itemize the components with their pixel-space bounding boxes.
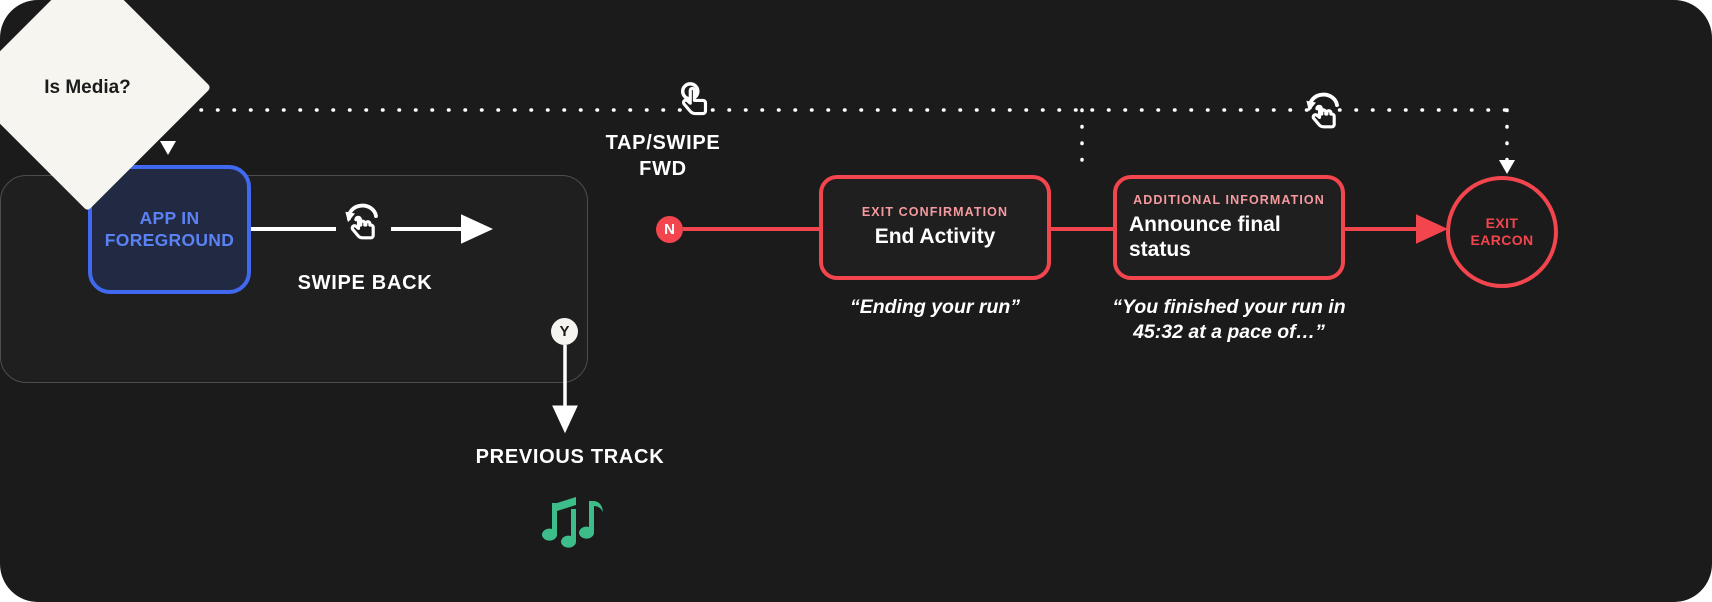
badge-yes: Y: [551, 318, 578, 345]
exit-confirmation-eyebrow: EXIT CONFIRMATION: [862, 205, 1008, 219]
additional-information-title: Announce final status: [1129, 212, 1329, 262]
node-exit-earcon[interactable]: EXIT EARCON: [1446, 176, 1558, 288]
node-exit-confirmation[interactable]: EXIT CONFIRMATION End Activity: [819, 175, 1051, 280]
dotted-earcon-arrowhead: [1499, 160, 1515, 174]
node-decision-is-media[interactable]: Is Media?: [0, 0, 175, 175]
tap-swipe-line2: FWD: [578, 156, 748, 182]
exit-earcon-line2: EARCON: [1470, 232, 1533, 250]
swipe-return-gesture-icon: [1302, 92, 1344, 134]
tap-swipe-line1: TAP/SWIPE: [578, 130, 748, 156]
app-foreground-line2: FOREGROUND: [105, 230, 234, 251]
label-swipe-back: SWIPE BACK: [245, 272, 485, 295]
swipe-back-gesture-icon: [341, 203, 383, 245]
diagram-canvas: APP IN FOREGROUND SWIPE BACK Is Media? N…: [0, 0, 1712, 602]
tap-gesture-icon: [671, 80, 713, 122]
node-additional-information[interactable]: ADDITIONAL INFORMATION Announce final st…: [1113, 175, 1345, 280]
exit-confirmation-title: End Activity: [875, 224, 996, 249]
label-tap-swipe-fwd: TAP/SWIPE FWD: [578, 130, 748, 183]
label-previous-track: PREVIOUS TRACK: [400, 446, 740, 469]
app-foreground-line1: APP IN: [140, 208, 200, 229]
decision-label: Is Media?: [0, 0, 175, 175]
additional-information-eyebrow: ADDITIONAL INFORMATION: [1133, 193, 1325, 207]
badge-no: N: [656, 216, 683, 243]
music-notes-icon: [530, 495, 610, 555]
exit-confirmation-caption: “Ending your run”: [819, 295, 1051, 320]
additional-information-caption: “You finished your run in 45:32 at a pac…: [1103, 295, 1355, 346]
exit-earcon-line1: EXIT: [1486, 215, 1519, 233]
